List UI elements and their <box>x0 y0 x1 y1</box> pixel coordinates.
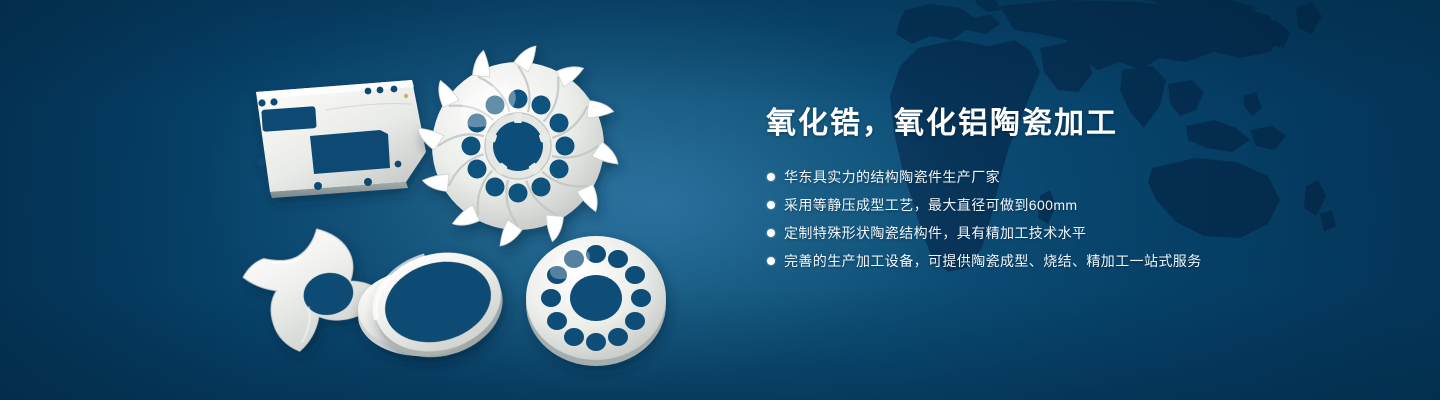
ceramic-flat-plate <box>256 80 426 198</box>
ceramic-ring <box>363 238 514 371</box>
feature-text: 定制特殊形状陶瓷结构件，具有精加工技术水平 <box>784 222 1086 244</box>
feature-text: 华东具实力的结构陶瓷件生产厂家 <box>784 166 1000 188</box>
ceramic-hole-flange <box>526 236 666 366</box>
promo-banner: 氧化锆，氧化铝陶瓷加工 华东具实力的结构陶瓷件生产厂家 采用等静压成型工艺，最大… <box>0 0 1440 400</box>
feature-list: 华东具实力的结构陶瓷件生产厂家 采用等静压成型工艺，最大直径可做到600mm 定… <box>762 166 1322 272</box>
banner-copy: 氧化锆，氧化铝陶瓷加工 华东具实力的结构陶瓷件生产厂家 采用等静压成型工艺，最大… <box>762 106 1322 278</box>
bullet-dot-icon <box>767 173 775 181</box>
list-item: 完善的生产加工设备，可提供陶瓷成型、烧结、精加工一站式服务 <box>762 250 1322 272</box>
list-item: 采用等静压成型工艺，最大直径可做到600mm <box>762 194 1322 216</box>
bullet-dot-icon <box>767 229 775 237</box>
bullet-dot-icon <box>767 257 775 265</box>
banner-headline: 氧化锆，氧化铝陶瓷加工 <box>766 106 1322 142</box>
product-image-group <box>230 40 700 380</box>
bullet-dot-icon <box>767 201 775 209</box>
feature-text: 完善的生产加工设备，可提供陶瓷成型、烧结、精加工一站式服务 <box>784 250 1202 272</box>
ceramic-impeller <box>418 46 618 246</box>
list-item: 华东具实力的结构陶瓷件生产厂家 <box>762 166 1322 188</box>
feature-text: 采用等静压成型工艺，最大直径可做到600mm <box>784 194 1077 216</box>
list-item: 定制特殊形状陶瓷结构件，具有精加工技术水平 <box>762 222 1322 244</box>
